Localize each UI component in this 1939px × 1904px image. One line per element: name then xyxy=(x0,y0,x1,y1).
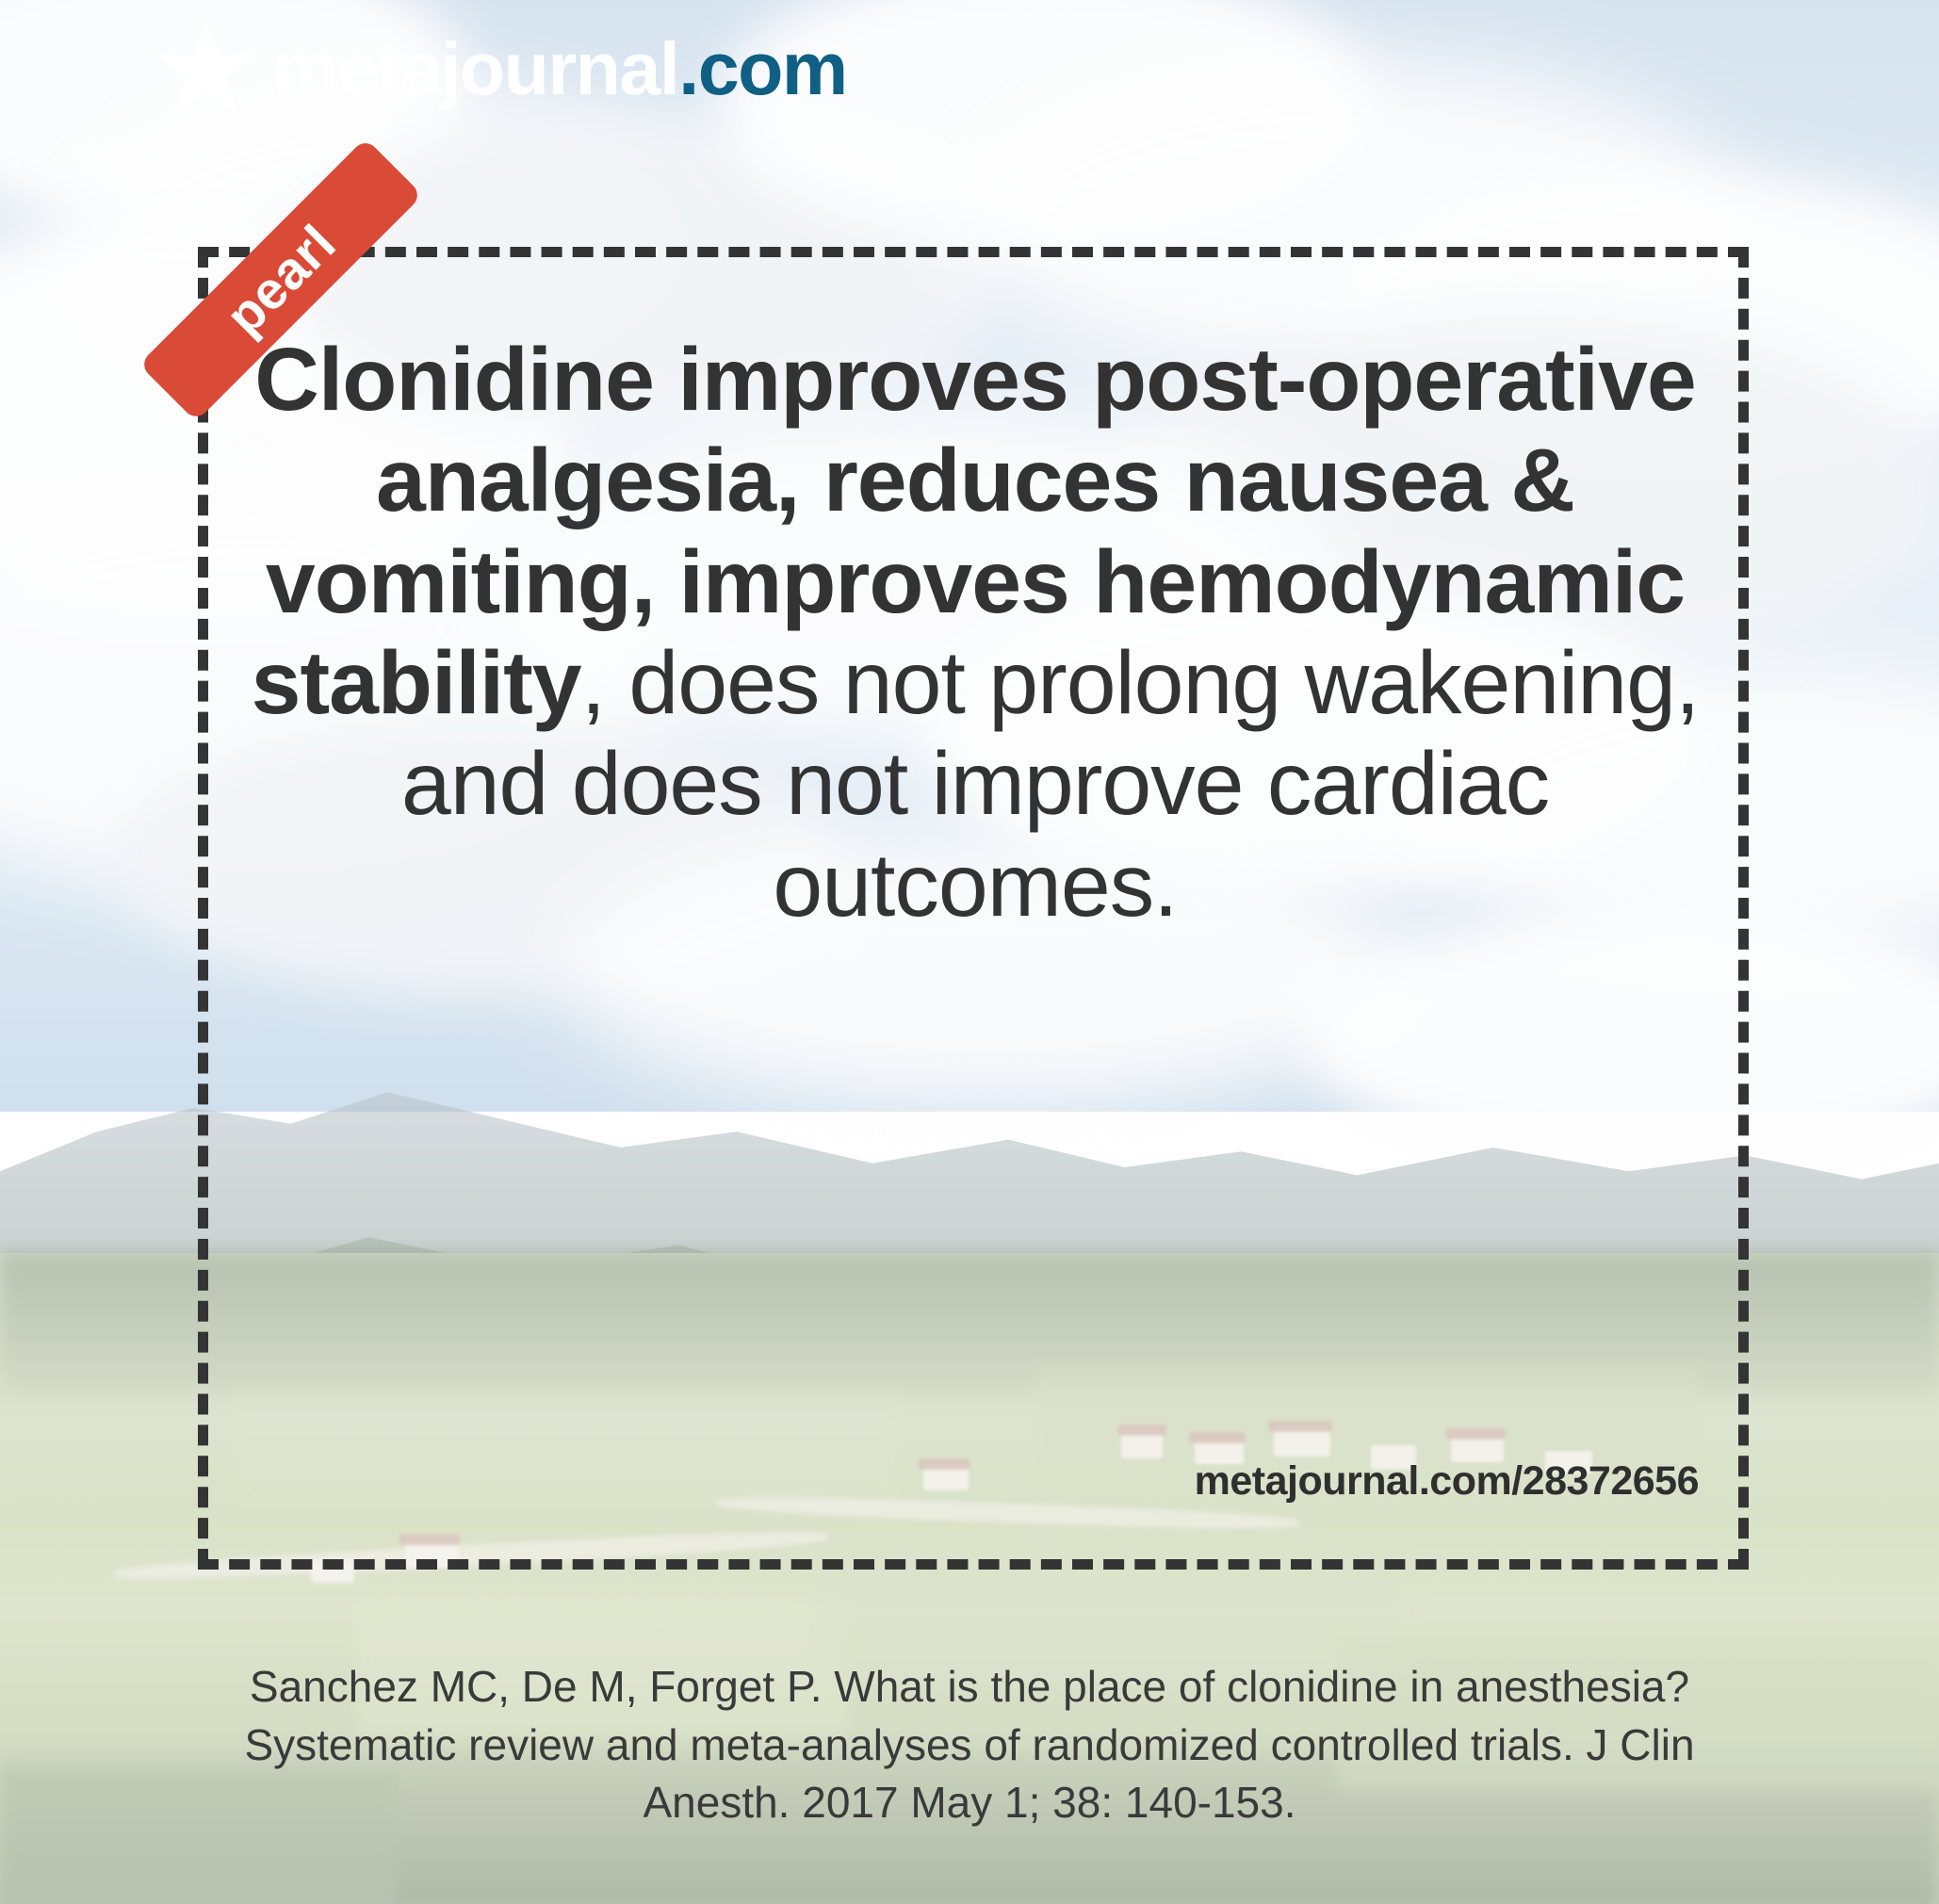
pearl-statement-regular: , does not prolong wakening, and does no… xyxy=(401,633,1700,936)
pearl-statement: Clonidine improves post-operative analge… xyxy=(236,330,1715,936)
star-icon xyxy=(154,17,259,119)
citation-text: Sanchez MC, De M, Forget P. What is the … xyxy=(179,1658,1760,1832)
watermark-url[interactable]: metajournal.com/28372656 xyxy=(1195,1458,1699,1505)
logo-wordmark: metajournal.com xyxy=(272,31,847,106)
logo-name: metajournal xyxy=(272,26,678,110)
pearl-card: metajournal.com pearl Clonidine improves… xyxy=(0,0,1939,1904)
site-logo[interactable]: metajournal.com xyxy=(154,17,847,119)
logo-tld: .com xyxy=(678,26,846,110)
